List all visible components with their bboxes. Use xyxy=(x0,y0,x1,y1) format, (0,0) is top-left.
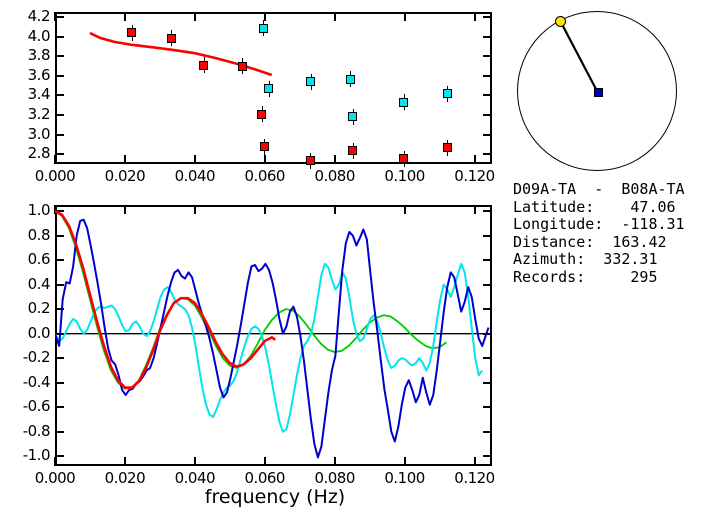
azimuth-diagram xyxy=(500,0,703,180)
records-line: Records: 295 xyxy=(513,269,703,287)
data-point-marker xyxy=(399,98,408,107)
y-tick-label: -1.0 xyxy=(0,448,50,463)
dispersion-curve-layer xyxy=(55,12,492,164)
data-point-marker xyxy=(348,146,357,155)
data-point-marker xyxy=(399,154,408,163)
data-point-marker xyxy=(127,28,136,37)
waveform-curve-layer xyxy=(55,205,492,466)
x-tick-label: 0.040 xyxy=(163,169,227,184)
y-tick-label: 3.6 xyxy=(0,68,50,83)
data-point-marker xyxy=(264,84,273,93)
x-axis-title: frequency (Hz) xyxy=(120,486,430,508)
x-tick-label: 0.120 xyxy=(443,471,507,486)
data-point-marker xyxy=(259,24,268,33)
latitude-line: Latitude: 47.06 xyxy=(513,199,703,217)
data-point-marker xyxy=(238,62,247,71)
data-point-marker xyxy=(257,110,266,119)
y-tick-label: 0.6 xyxy=(0,252,50,267)
x-tick-label: 0.080 xyxy=(303,169,367,184)
data-point-marker xyxy=(260,142,269,151)
y-tick-label: 0.4 xyxy=(0,277,50,292)
data-point-marker xyxy=(306,156,315,165)
data-point-marker xyxy=(348,112,357,121)
y-tick-label: 3.0 xyxy=(0,127,50,142)
x-tick-label: 0.040 xyxy=(163,471,227,486)
y-tick-label: 4.0 xyxy=(0,29,50,44)
x-tick-label: 0.060 xyxy=(233,169,297,184)
waveform-trace-reference-red xyxy=(55,211,275,387)
distance-line: Distance: 163.42 xyxy=(513,234,703,252)
waveform-trace-observed-cyan xyxy=(55,264,482,432)
y-tick-label: -0.8 xyxy=(0,424,50,439)
x-tick-label: 0.060 xyxy=(233,471,297,486)
center-marker xyxy=(594,88,603,97)
azimuth-line: Azimuth: 332.31 xyxy=(513,251,703,269)
x-tick-label: 0.100 xyxy=(373,169,437,184)
data-point-marker xyxy=(443,143,452,152)
x-tick-label: 0.100 xyxy=(373,471,437,486)
y-tick-label: 3.2 xyxy=(0,107,50,122)
data-point-marker xyxy=(167,34,176,43)
data-point-marker xyxy=(199,61,208,70)
y-tick-label: 0.2 xyxy=(0,301,50,316)
y-tick-label: -0.6 xyxy=(0,399,50,414)
data-point-marker xyxy=(443,89,452,98)
x-tick-label: 0.000 xyxy=(23,471,87,486)
dispersion-panel: 2.83.03.23.43.63.84.04.2 0.0000.0200.040… xyxy=(0,0,500,190)
x-tick-label: 0.020 xyxy=(93,471,157,486)
station-pair-info: D09A-TA - B08A-TALatitude: 47.06Longitud… xyxy=(513,181,703,286)
y-tick-label: 2.8 xyxy=(0,146,50,161)
station-marker xyxy=(555,16,566,27)
y-tick-label: 3.8 xyxy=(0,48,50,63)
y-tick-label: -0.2 xyxy=(0,350,50,365)
x-tick-label: 0.080 xyxy=(303,471,367,486)
y-tick-label: 0.0 xyxy=(0,326,50,341)
y-tick-label: 3.4 xyxy=(0,87,50,102)
y-tick-label: 4.2 xyxy=(0,9,50,24)
waveform-panel: -1.0-0.8-0.6-0.4-0.20.00.20.40.60.81.0 0… xyxy=(0,190,500,519)
x-tick-label: 0.000 xyxy=(23,169,87,184)
longitude-line: Longitude: -118.31 xyxy=(513,216,703,234)
y-tick-label: 0.8 xyxy=(0,228,50,243)
station-pair-line: D09A-TA - B08A-TA xyxy=(513,181,703,199)
data-point-marker xyxy=(306,77,315,86)
data-point-marker xyxy=(346,75,355,84)
x-tick-label: 0.020 xyxy=(93,169,157,184)
y-tick-label: 1.0 xyxy=(0,203,50,218)
y-tick-label: -0.4 xyxy=(0,375,50,390)
x-tick-label: 0.120 xyxy=(443,169,507,184)
